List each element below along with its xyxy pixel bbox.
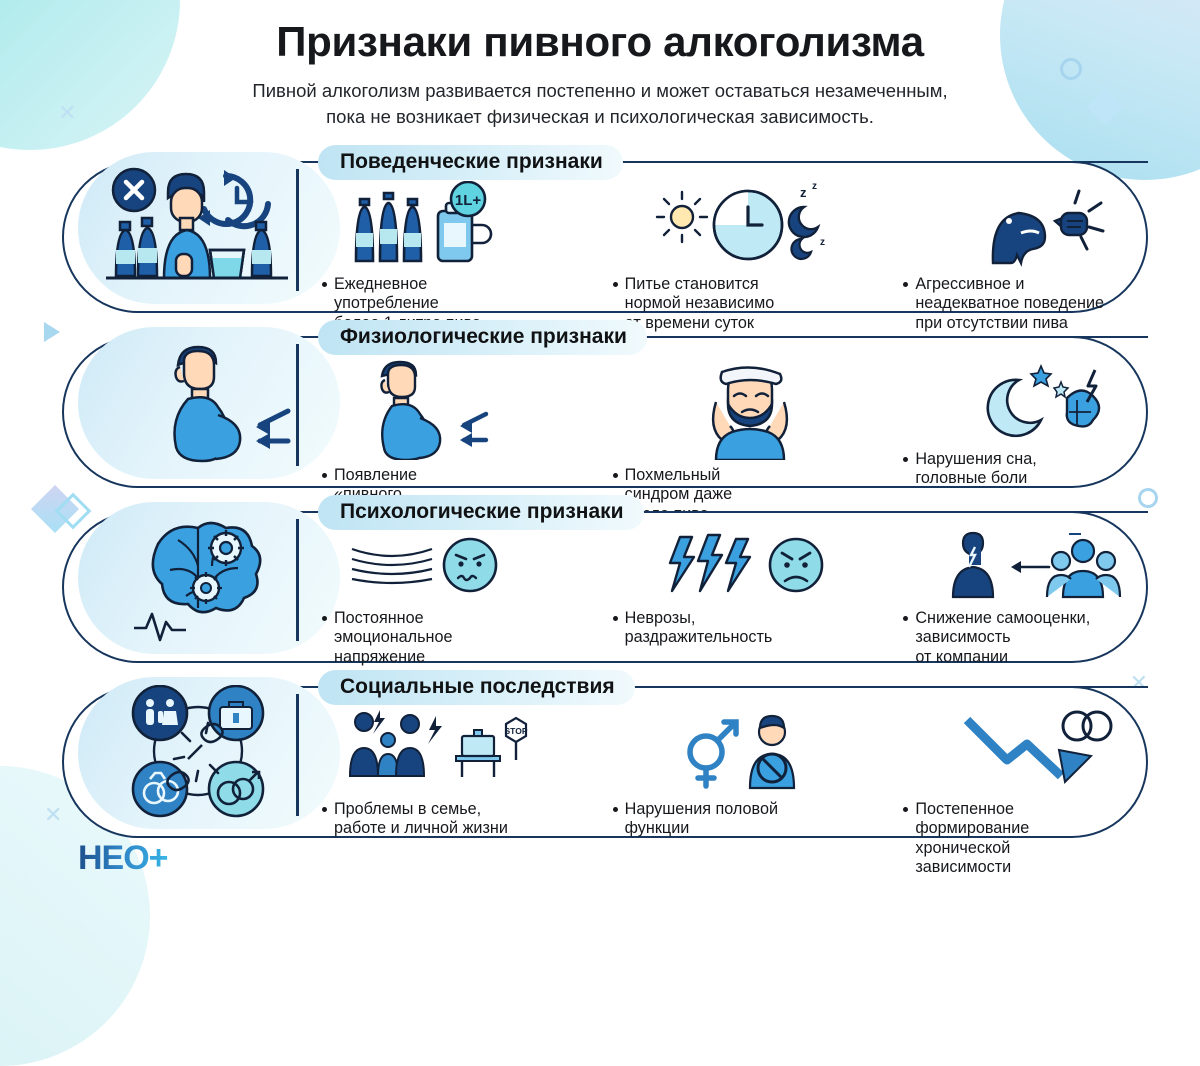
- section-label-row: Физиологические признаки: [318, 318, 1142, 356]
- section-physiological: Физиологические признаки: [0, 318, 1200, 488]
- three-bottles-and-1l-mug-icon: 1L+: [322, 181, 591, 267]
- list-item: z z z Питье становится нормой независимо…: [601, 177, 892, 309]
- section-label: Психологические признаки: [318, 495, 644, 530]
- list-item: Постоянное эмоциональное напряжение: [310, 527, 601, 659]
- bullet-icon: [322, 616, 327, 621]
- section-label-row: Социальные последствия: [318, 668, 1142, 706]
- section-label-row: Психологические признаки: [318, 493, 1142, 531]
- list-item: Агрессивное и неадекватное поведение при…: [891, 177, 1182, 309]
- page-subtitle: Пивной алкоголизм развивается постепенно…: [0, 78, 1200, 129]
- bullet-icon: [903, 807, 908, 812]
- list-item: Появление «пивного живота»: [310, 352, 601, 484]
- item-text: Снижение самооценки, зависимость от комп…: [915, 609, 1090, 667]
- section-label-line: [658, 511, 1148, 514]
- bullet-icon: [322, 473, 327, 478]
- section-items: STOP Проблемы в семье, работе и личной ж…: [310, 702, 1182, 834]
- bullet-icon: [613, 616, 618, 621]
- item-text: Постепенное формирование хронической зав…: [915, 800, 1029, 877]
- list-item: Постепенное формирование хронической зав…: [891, 702, 1182, 834]
- section-label: Поведенческие признаки: [318, 145, 623, 180]
- bullet-icon: [613, 473, 618, 478]
- item-text: Нарушения половой функции: [625, 800, 778, 839]
- downward-arrow-rings-icon: [903, 706, 1172, 792]
- family-conflict-work-stop-icon: STOP: [322, 706, 591, 792]
- hangover-headache-man-icon: [613, 356, 882, 460]
- section-divider: [296, 519, 299, 641]
- man-with-beer-bottles-icon: [92, 158, 322, 298]
- section-social: Социальные последствия: [0, 668, 1200, 838]
- brain-with-gears-icon: [98, 508, 328, 648]
- bullet-icon: [322, 282, 327, 287]
- item-text: Нарушения сна, головные боли: [915, 450, 1036, 489]
- thumbs-down-group-icon: [903, 531, 1172, 601]
- section-psychological: Психологические признаки: [0, 493, 1200, 663]
- item-text: Постоянное эмоциональное напряжение: [334, 609, 452, 667]
- section-illustration-panel: [78, 327, 340, 479]
- section-divider: [296, 694, 299, 816]
- section-label: Физиологические признаки: [318, 320, 647, 355]
- section-items: Постоянное эмоциональное напряжение: [310, 527, 1182, 659]
- section-behavioral: Поведенческие признаки: [0, 143, 1200, 313]
- list-item: Похмельный синдром даже после пива: [601, 352, 892, 484]
- bullet-icon: [903, 282, 908, 287]
- bullet-icon: [613, 807, 618, 812]
- section-illustration-panel: [78, 677, 340, 829]
- list-item: 1L+ Ежедневное употребление более 1 литр…: [310, 177, 601, 309]
- svg-text:z: z: [800, 185, 807, 200]
- svg-text:1L+: 1L+: [455, 192, 482, 209]
- man-with-belly-arrows-icon: [92, 331, 322, 471]
- gender-symbols-blocked-icon: [613, 706, 882, 792]
- section-items: Появление «пивного живота»: [310, 352, 1182, 484]
- sections-container: Поведенческие признаки: [0, 143, 1200, 838]
- section-illustration-panel: [78, 502, 340, 654]
- item-text: Проблемы в семье, работе и личной жизни: [334, 800, 508, 839]
- list-item: Нарушения сна, головные боли: [891, 352, 1182, 484]
- section-illustration-panel: [78, 152, 340, 304]
- section-label-line: [661, 336, 1148, 339]
- bullet-icon: [903, 616, 908, 621]
- section-divider: [296, 344, 299, 466]
- section-label: Социальные последствия: [318, 670, 635, 705]
- list-item: Неврозы, раздражительность: [601, 527, 892, 659]
- bullet-icon: [613, 282, 618, 287]
- bullet-icon: [322, 807, 327, 812]
- section-label-row: Поведенческие признаки: [318, 143, 1142, 181]
- list-item: Нарушения половой функции: [601, 702, 892, 834]
- man-profile-beer-belly-icon: [322, 356, 591, 460]
- svg-text:z: z: [812, 181, 817, 192]
- svg-text:STOP: STOP: [505, 726, 528, 736]
- page-title: Признаки пивного алкоголизма: [0, 18, 1200, 66]
- section-label-line: [637, 161, 1148, 164]
- tense-face-icon: [322, 531, 591, 601]
- list-item: STOP Проблемы в семье, работе и личной ж…: [310, 702, 601, 834]
- lightning-angry-face-icon: [613, 531, 882, 601]
- svg-text:z: z: [820, 237, 825, 248]
- moon-stars-brain-icon: [903, 356, 1172, 442]
- bullet-icon: [903, 457, 908, 462]
- section-label-line: [649, 686, 1148, 689]
- page-header: Признаки пивного алкоголизма Пивной алко…: [0, 0, 1200, 129]
- shouting-man-fist-icon: [903, 181, 1172, 267]
- brand-logo: НЕО+: [78, 839, 168, 878]
- section-items: 1L+ Ежедневное употребление более 1 литр…: [310, 177, 1182, 309]
- list-item: Снижение самооценки, зависимость от комп…: [891, 527, 1182, 659]
- item-text: Неврозы, раздражительность: [625, 609, 773, 648]
- section-divider: [296, 169, 299, 291]
- clock-day-night-icon: z z z: [613, 181, 882, 267]
